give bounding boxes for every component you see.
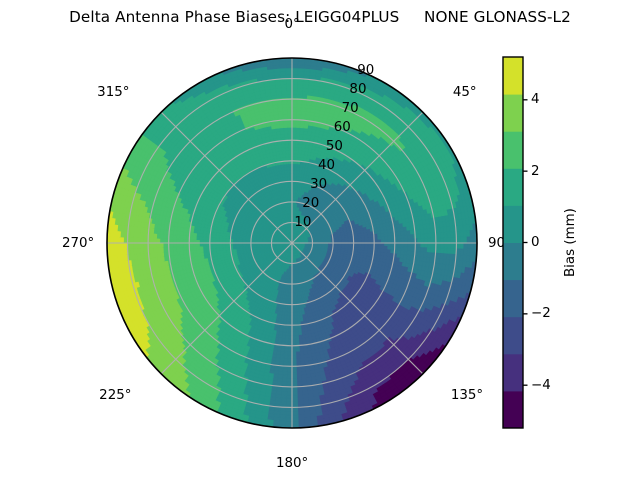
angular-tick-label-135: 135° <box>451 388 483 403</box>
colorbar-tick-label-0: 4 <box>531 92 540 107</box>
radial-tick-label-50: 50 <box>326 139 343 154</box>
radial-tick-label-60: 60 <box>334 120 351 135</box>
colorbar-tick-label-3: −2 <box>531 306 551 321</box>
angular-tick-label-45: 45° <box>453 85 477 100</box>
angular-tick-label-270: 270° <box>62 236 94 251</box>
radial-tick-label-80: 80 <box>349 82 366 97</box>
colorbar-axis-label: Bias (mm) <box>563 208 578 277</box>
angular-tick-label-225: 225° <box>99 388 131 403</box>
polar-grid-group <box>107 58 477 428</box>
radial-tick-label-10: 10 <box>294 215 311 230</box>
radial-tick-label-90: 90 <box>357 63 374 78</box>
radial-tick-label-20: 20 <box>302 196 319 211</box>
angular-tick-label-315: 315° <box>97 85 129 100</box>
colorbar-tick-label-4: −4 <box>531 378 551 393</box>
figure-canvas: Delta Antenna Phase Biases: LEIGG04PLUS … <box>0 0 640 480</box>
angular-tick-label-180: 180° <box>276 456 308 471</box>
colorbar-tick-label-1: 2 <box>531 164 540 179</box>
angular-tick-label-0: 0° <box>285 17 300 32</box>
radial-tick-label-40: 40 <box>318 158 335 173</box>
radial-tick-label-30: 30 <box>310 177 327 192</box>
radial-tick-label-70: 70 <box>342 101 359 116</box>
colorbar-tick-label-2: 0 <box>531 235 540 250</box>
